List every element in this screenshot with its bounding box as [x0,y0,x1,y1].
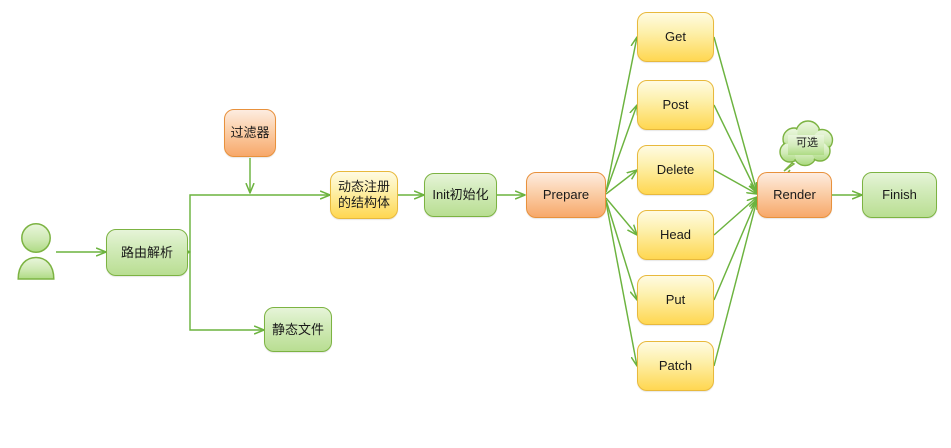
node-method-delete-label: Delete [657,162,695,178]
node-init[interactable]: Init初始化 [424,173,497,217]
node-dynamic-struct-label-line1: 动态注册 [338,179,390,195]
node-dynamic-struct-label-line2: 的结构体 [338,195,390,211]
edge-get-to-render [714,37,757,192]
node-optional-cloud[interactable]: 可选 [774,119,840,175]
node-finish-label: Finish [882,187,917,203]
node-dynamic-struct[interactable]: 动态注册 的结构体 [330,171,398,219]
edge-post-to-render [714,105,757,193]
edge-route-to-dynamic [190,195,330,252]
node-render-label: Render [773,187,816,203]
node-method-patch[interactable]: Patch [637,341,714,391]
node-static-file[interactable]: 静态文件 [264,307,332,352]
node-filter[interactable]: 过滤器 [224,109,276,157]
node-prepare-label: Prepare [543,187,589,203]
node-method-put-label: Put [666,292,686,308]
node-finish[interactable]: Finish [862,172,937,218]
flowchart-canvas: 路由解析 过滤器 静态文件 动态注册 的结构体 Init初始化 Prepare … [0,0,951,448]
node-method-delete[interactable]: Delete [637,145,714,195]
edge-prepare-to-head [606,198,637,235]
edge-prepare-to-get [606,37,637,192]
edge-head-to-render [714,197,757,235]
node-method-post[interactable]: Post [637,80,714,130]
node-method-get-label: Get [665,29,686,45]
edge-route-to-static [190,252,264,330]
node-method-post-label: Post [662,97,688,113]
node-method-put[interactable]: Put [637,275,714,325]
edge-prepare-to-post [606,105,637,192]
edge-prepare-to-put [606,200,637,300]
edge-patch-to-render [714,200,757,366]
edge-prepare-to-delete [606,170,637,194]
user-actor-icon [14,222,58,280]
edge-prepare-to-patch [606,202,637,366]
edge-delete-to-render [714,170,757,194]
node-method-head[interactable]: Head [637,210,714,260]
node-method-patch-label: Patch [659,358,692,374]
node-method-get[interactable]: Get [637,12,714,62]
node-route-parse-label: 路由解析 [121,245,173,261]
node-method-head-label: Head [660,227,691,243]
node-init-label: Init初始化 [432,187,488,203]
node-filter-label: 过滤器 [230,125,269,141]
edge-put-to-render [714,199,757,300]
node-prepare[interactable]: Prepare [526,172,606,218]
cloud-shape-icon [774,119,840,175]
edge-layer [0,0,951,448]
node-route-parse[interactable]: 路由解析 [106,229,188,276]
node-render[interactable]: Render [757,172,832,218]
node-static-file-label: 静态文件 [272,322,324,338]
actor-user[interactable] [14,222,58,280]
